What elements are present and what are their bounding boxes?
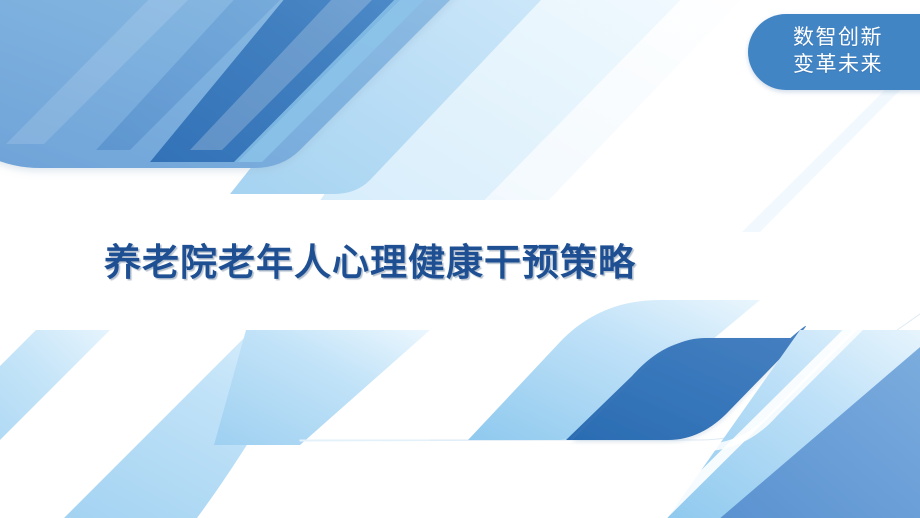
bottom-right-white-separator-2 (556, 288, 900, 448)
bottom-left-decoration-group (0, 330, 470, 518)
top-diagonal-band-dark (150, 0, 420, 162)
bottom-right-dark-parallelogram-base (566, 326, 806, 440)
bottom-left-stripe-inner (42, 332, 420, 518)
bottom-right-pale-parallelogram (468, 300, 760, 440)
title-container: 养老院老年人心理健康干预策略 (0, 228, 740, 290)
slide-title: 养老院老年人心理健康干预策略 (104, 232, 636, 286)
bottom-right-white-separator (660, 300, 880, 518)
brand-badge: 数智创新 变革未来 (748, 14, 920, 90)
brand-badge-line-2: 变革未来 (793, 52, 883, 79)
top-diagonal-highlight (190, 0, 392, 150)
top-diagonal-band-light (230, 0, 560, 194)
bottom-hairline (300, 440, 560, 441)
brand-badge-line-1: 数智创新 (793, 25, 883, 52)
bottom-left-stripe-outer (0, 330, 110, 460)
top-diagonal-sliver (234, 0, 444, 162)
bottom-left-pale-wedge (214, 330, 430, 445)
top-diagonal-band-pale (300, 0, 700, 230)
bottom-right-triangle (718, 330, 920, 518)
bottom-right-decoration-group (430, 300, 920, 518)
bottom-right-dark-parallelogram (572, 338, 800, 440)
upper-right-faint-sliver (742, 70, 920, 232)
bottom-right-pale-stripe (666, 330, 920, 518)
bottom-right-hairline (430, 300, 920, 440)
top-diagonal-band-mid (96, 0, 300, 150)
top-left-gradient-block (0, 0, 470, 168)
title-slide: 数智创新 变革未来 养老院老年人心理健康干预策略 (0, 0, 920, 518)
top-decoration-group (0, 0, 760, 230)
top-diagonal-highlight-2 (6, 0, 208, 144)
top-diagonal-band-faint (320, 0, 760, 230)
